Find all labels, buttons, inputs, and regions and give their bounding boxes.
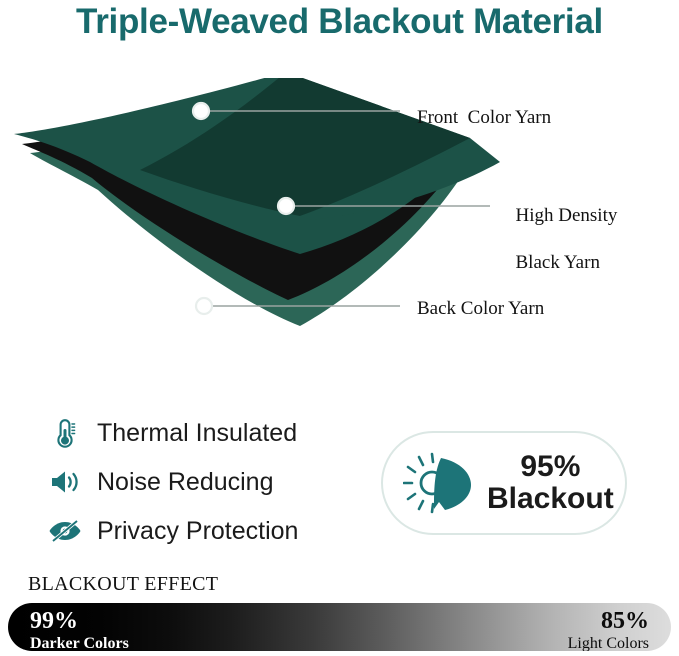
blackout-word: Blackout (487, 483, 614, 515)
sun-blocked-icon (401, 450, 479, 516)
callout-label-back: Back Color Yarn (417, 297, 544, 320)
blackout-effect-gradient-bar: 99% Darker Colors 85% Light Colors (8, 603, 671, 651)
feature-item-thermal: Thermal Insulated (46, 412, 376, 454)
callout-label-middle-line1: High Density (516, 205, 618, 226)
bar-left-stat: 99% Darker Colors (30, 609, 129, 651)
thermometer-icon (46, 415, 84, 451)
feature-list: Thermal Insulated Noise Reducing Privacy… (46, 412, 376, 559)
blackout-badge-text: 95% Blackout (487, 451, 614, 515)
feature-item-privacy: Privacy Protection (46, 510, 376, 552)
bar-right-stat: 85% Light Colors (568, 609, 649, 651)
feature-label-privacy: Privacy Protection (97, 517, 298, 546)
blackout-badge: 95% Blackout (381, 431, 627, 535)
bar-right-percent: 85% (568, 609, 649, 635)
page-title: Triple-Weaved Blackout Material (0, 2, 679, 42)
callout-label-front: Front Color Yarn (417, 106, 551, 129)
callout-marker-middle (278, 198, 294, 214)
callout-marker-front (193, 103, 209, 119)
callout-label-middle: High Density Black Yarn (506, 181, 617, 274)
feature-item-noise: Noise Reducing (46, 461, 376, 503)
feature-label-thermal: Thermal Insulated (97, 419, 297, 448)
blackout-effect-heading: BLACKOUT EFFECT (28, 573, 218, 596)
blackout-percent: 95% (487, 451, 614, 483)
speaker-sound-icon (46, 464, 84, 500)
callout-marker-back (196, 298, 212, 314)
bar-right-label: Light Colors (568, 635, 649, 651)
bar-left-label: Darker Colors (30, 635, 129, 651)
eye-slash-icon (46, 513, 84, 549)
feature-label-noise: Noise Reducing (97, 468, 274, 497)
callout-label-middle-line2: Black Yarn (516, 252, 600, 273)
bar-left-percent: 99% (30, 609, 129, 635)
